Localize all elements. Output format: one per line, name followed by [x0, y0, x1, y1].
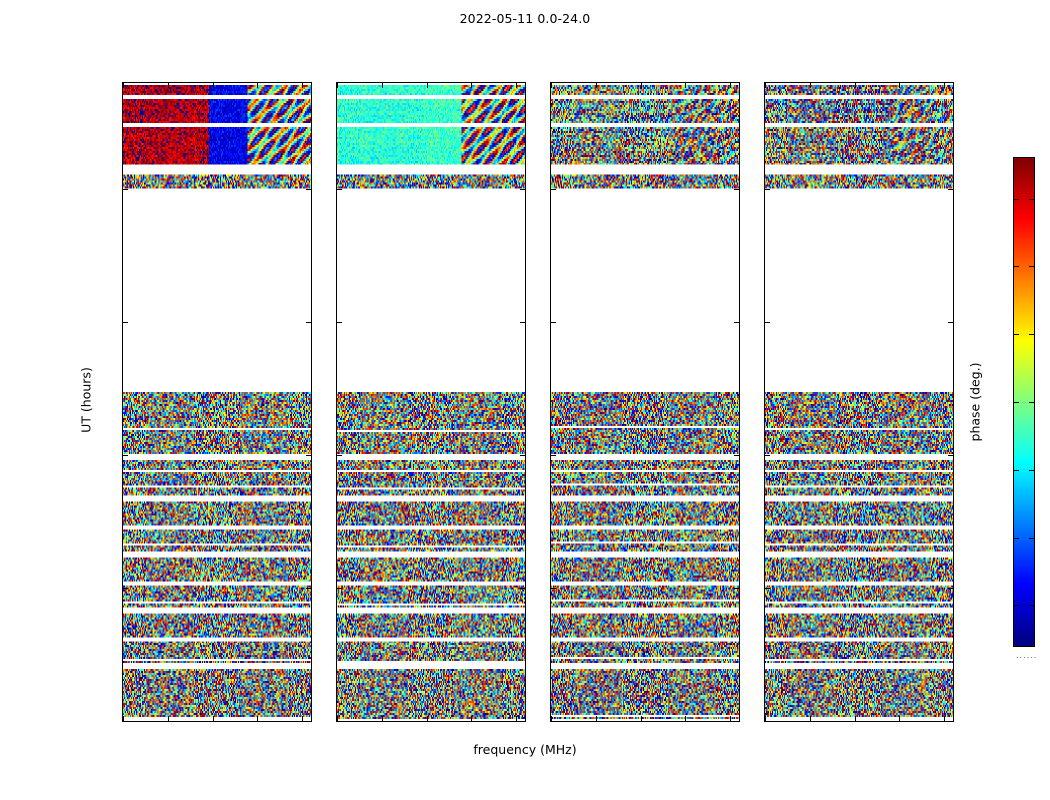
y-axis-tick — [122, 322, 128, 323]
x-axis-tick — [302, 716, 303, 722]
x-axis-tick — [382, 82, 383, 88]
y-axis-tick — [122, 721, 128, 722]
x-axis-tick — [337, 716, 338, 722]
x-axis-tick — [516, 716, 517, 722]
y-axis-tick — [764, 322, 770, 323]
y-axis-tick — [306, 588, 312, 589]
y-axis-tick — [520, 322, 526, 323]
panel-plot-area[interactable] — [765, 83, 953, 721]
y-axis-tick — [336, 322, 342, 323]
x-axis-tick — [302, 82, 303, 88]
y-axis-tick — [550, 721, 556, 722]
x-axis-tick — [944, 82, 945, 88]
y-axis-tick — [764, 721, 770, 722]
x-axis-label: frequency (MHz) — [0, 742, 1050, 757]
colorbar-tick — [1029, 402, 1034, 403]
x-axis-tick — [810, 82, 811, 88]
y-axis-tick — [336, 455, 342, 456]
colorbar-tick — [1029, 266, 1034, 267]
y-axis-tick — [306, 322, 312, 323]
x-axis-tick — [168, 716, 169, 722]
y-axis-tick — [948, 189, 954, 190]
x-axis-tick — [899, 82, 900, 88]
panel-plot-area[interactable] — [337, 83, 525, 721]
colorbar-label: phase (deg.) — [968, 363, 983, 442]
x-axis-tick — [730, 82, 731, 88]
y-axis-tick — [734, 721, 740, 722]
phase-heatmap-yx — [765, 83, 953, 721]
y-axis-tick — [734, 322, 740, 323]
y-axis-tick — [122, 455, 128, 456]
y-axis-tick — [122, 189, 128, 190]
y-axis-tick — [336, 721, 342, 722]
colorbar-tick — [1014, 266, 1019, 267]
x-axis-tick — [944, 716, 945, 722]
y-axis-tick — [306, 721, 312, 722]
x-axis-tick — [516, 82, 517, 88]
x-axis-tick — [427, 82, 428, 88]
panel-xy[interactable]: XY, V1*V3=EA27*EA04051015203203353503653… — [550, 82, 740, 722]
colorbar-tick — [1014, 402, 1019, 403]
panel-yx[interactable]: YX, V1*V3=EA27*EA04051015203203353503653… — [764, 82, 954, 722]
y-axis-tick — [306, 189, 312, 190]
colorbar-tick — [1014, 199, 1019, 200]
phase-waterfall-figure: 2022-05-11 0.0-24.0 UT (hours) frequency… — [0, 0, 1050, 800]
x-axis-tick — [685, 716, 686, 722]
y-axis-tick — [520, 189, 526, 190]
y-axis-tick — [764, 455, 770, 456]
y-axis-tick — [734, 189, 740, 190]
x-axis-tick — [641, 82, 642, 88]
phase-heatmap-xx — [123, 83, 311, 721]
x-axis-tick — [899, 716, 900, 722]
x-axis-tick — [810, 716, 811, 722]
figure-title: 2022-05-11 0.0-24.0 — [0, 11, 1050, 26]
panel-xx[interactable]: XX, V1*V3=EA27*EA04051015203203353503653… — [122, 82, 312, 722]
x-axis-tick — [855, 82, 856, 88]
colorbar-tick — [1014, 538, 1019, 539]
y-axis-tick — [734, 455, 740, 456]
x-axis-tick — [123, 716, 124, 722]
colorbar-tick — [1029, 538, 1034, 539]
x-axis-tick — [596, 716, 597, 722]
x-axis-tick — [471, 716, 472, 722]
x-axis-tick — [765, 716, 766, 722]
y-axis-tick — [948, 721, 954, 722]
y-axis-tick — [520, 588, 526, 589]
x-axis-tick — [337, 82, 338, 88]
y-axis-tick — [550, 189, 556, 190]
y-axis-tick — [948, 322, 954, 323]
x-axis-tick — [685, 82, 686, 88]
y-axis-tick — [734, 588, 740, 589]
x-axis-tick — [123, 82, 124, 88]
y-axis-tick — [948, 455, 954, 456]
colorbar-overflow-marks: ...... — [1016, 651, 1037, 660]
x-axis-tick — [765, 82, 766, 88]
colorbar-tick — [1014, 470, 1019, 471]
phase-heatmap-yy — [337, 83, 525, 721]
panel-plot-area[interactable] — [551, 83, 739, 721]
x-axis-tick — [382, 716, 383, 722]
y-axis-tick — [550, 322, 556, 323]
y-axis-tick — [336, 189, 342, 190]
colorbar-tick — [1029, 605, 1034, 606]
y-axis-tick — [520, 455, 526, 456]
y-axis-tick — [306, 455, 312, 456]
panel-plot-area[interactable] — [123, 83, 311, 721]
y-axis-tick — [764, 588, 770, 589]
colorbar[interactable]: −150−100−50050100150 — [1013, 157, 1035, 647]
colorbar-tick — [1029, 199, 1034, 200]
y-axis-label: UT (hours) — [79, 367, 94, 433]
x-axis-tick — [257, 82, 258, 88]
x-axis-tick — [471, 82, 472, 88]
x-axis-tick — [213, 82, 214, 88]
y-axis-tick — [764, 189, 770, 190]
y-axis-tick — [948, 588, 954, 589]
x-axis-tick — [641, 716, 642, 722]
x-axis-tick — [855, 716, 856, 722]
x-axis-tick — [427, 716, 428, 722]
colorbar-tick — [1014, 605, 1019, 606]
y-axis-tick — [520, 721, 526, 722]
colorbar-tick — [1029, 470, 1034, 471]
y-axis-tick — [550, 588, 556, 589]
phase-heatmap-xy — [551, 83, 739, 721]
y-axis-tick — [122, 588, 128, 589]
panel-yy[interactable]: YY, V1*V3=EA27*EA04051015203203353503653… — [336, 82, 526, 722]
x-axis-tick — [257, 716, 258, 722]
y-axis-tick — [550, 455, 556, 456]
colorbar-tick — [1029, 334, 1034, 335]
x-axis-tick — [596, 82, 597, 88]
x-axis-tick — [551, 716, 552, 722]
x-axis-tick — [168, 82, 169, 88]
colorbar-tick — [1014, 334, 1019, 335]
x-axis-tick — [730, 716, 731, 722]
x-axis-tick — [213, 716, 214, 722]
x-axis-tick — [551, 82, 552, 88]
y-axis-tick — [336, 588, 342, 589]
